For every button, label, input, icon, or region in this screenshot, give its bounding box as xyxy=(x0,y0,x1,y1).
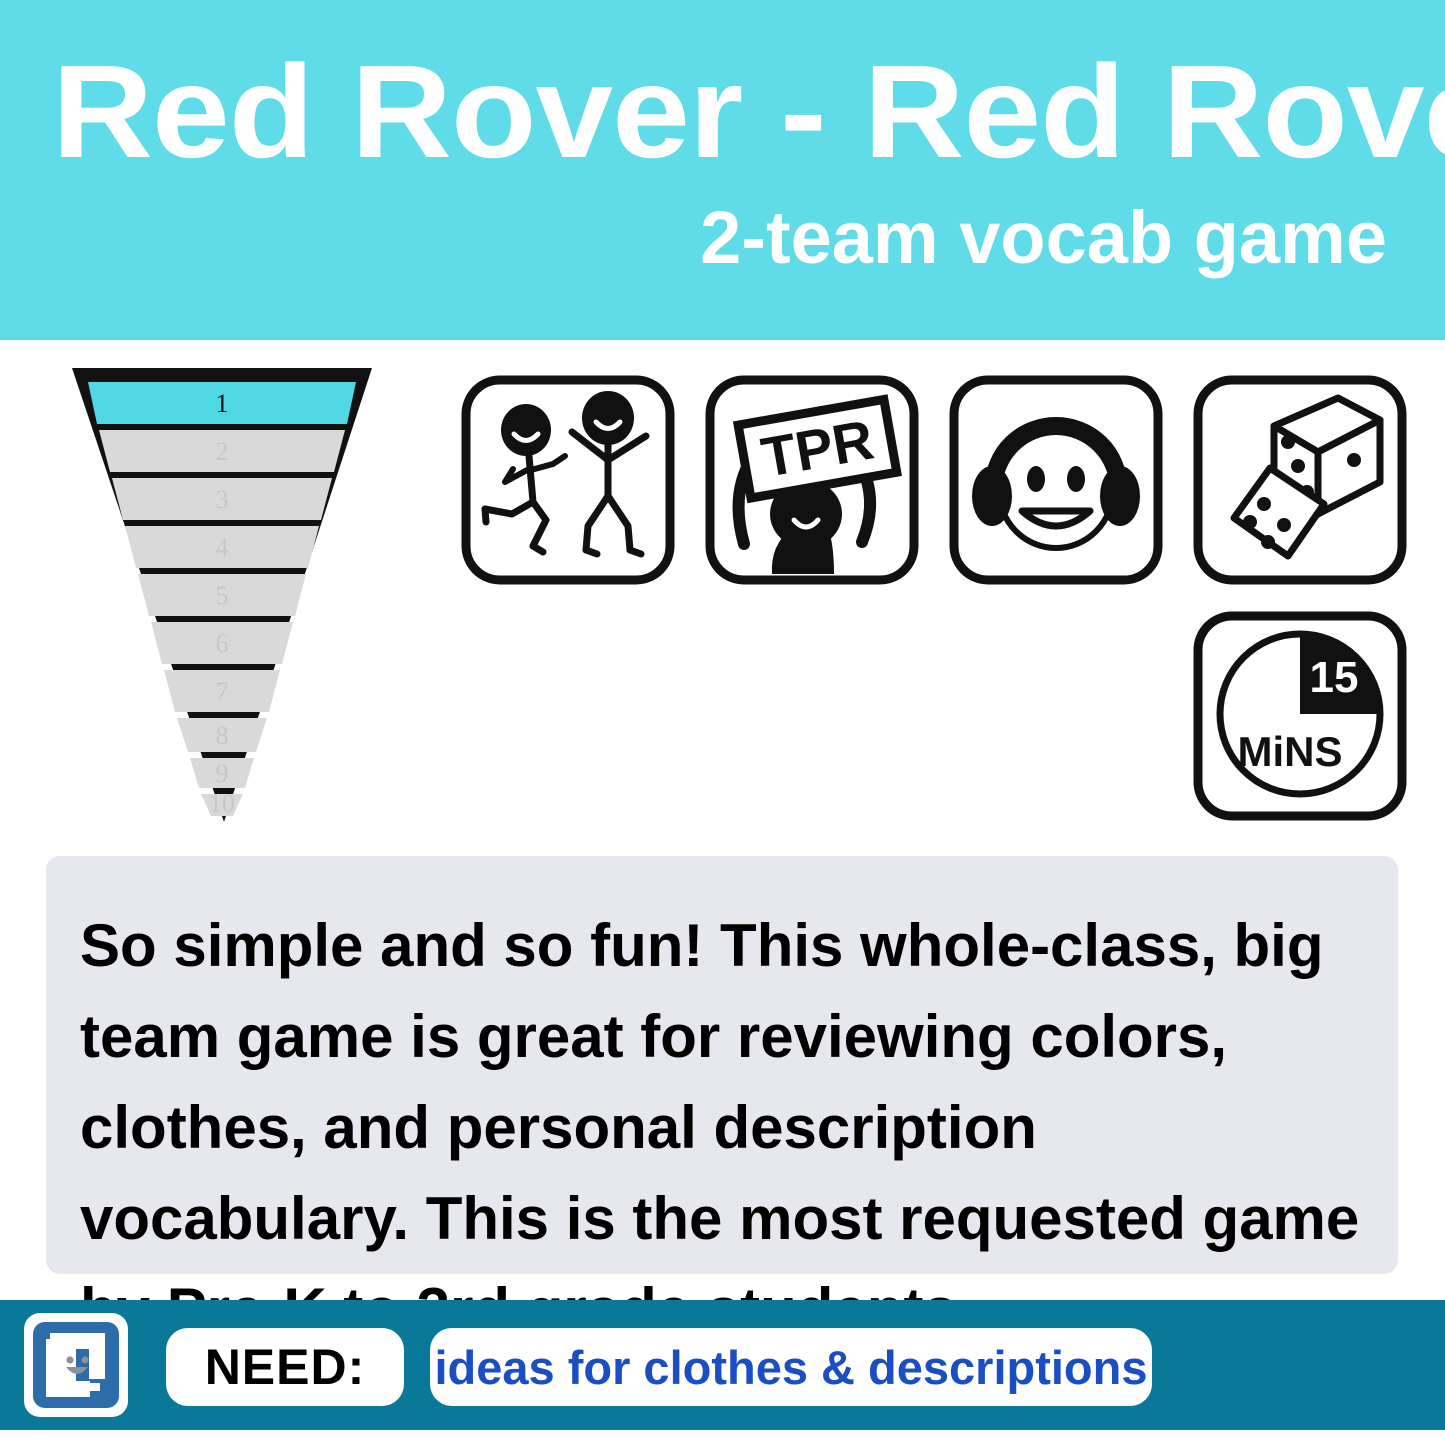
resource-link-label[interactable]: ideas for clothes & descriptions xyxy=(434,1340,1147,1395)
funnel-label-4: 4 xyxy=(216,533,229,562)
funnel-label-10: 10 xyxy=(209,789,235,818)
funnel-label-8: 8 xyxy=(216,721,229,750)
funnel-label-1: 1 xyxy=(216,389,229,418)
difficulty-level-funnel: 1 2 3 4 5 6 7 8 9 10 xyxy=(62,360,382,830)
funnel-label-2: 2 xyxy=(216,437,229,466)
page-subtitle: 2-team vocab game xyxy=(700,196,1387,280)
need-label: NEED: xyxy=(205,1338,366,1396)
dice-icon xyxy=(1192,374,1408,586)
brand-logo[interactable] xyxy=(24,1313,128,1417)
funnel-label-3: 3 xyxy=(216,485,229,514)
resource-link-pill[interactable]: ideas for clothes & descriptions xyxy=(430,1328,1152,1406)
need-pill: NEED: xyxy=(166,1328,404,1406)
stick-figures-moving-icon xyxy=(460,374,676,586)
funnel-label-6: 6 xyxy=(216,629,229,658)
timer-unit-label: MiNS xyxy=(1238,728,1343,775)
headphones-face-icon xyxy=(948,374,1164,586)
description-text: So simple and so fun! This whole-class, … xyxy=(80,900,1364,1355)
funnel-label-5: 5 xyxy=(216,581,229,610)
description-panel: So simple and so fun! This whole-class, … xyxy=(46,856,1398,1274)
funnel-label-7: 7 xyxy=(216,677,229,706)
timer-minutes-value: 15 xyxy=(1310,653,1359,702)
page-title: Red Rover - Red Rover xyxy=(52,42,1445,182)
promo-card: Red Rover - Red Rover 2-team vocab game … xyxy=(0,0,1445,1445)
tpr-sign-icon: TPR xyxy=(704,374,920,586)
timer-icon: 15 MiNS xyxy=(1192,610,1408,822)
funnel-label-9: 9 xyxy=(216,759,229,788)
header-banner: Red Rover - Red Rover 2-team vocab game xyxy=(0,0,1445,340)
